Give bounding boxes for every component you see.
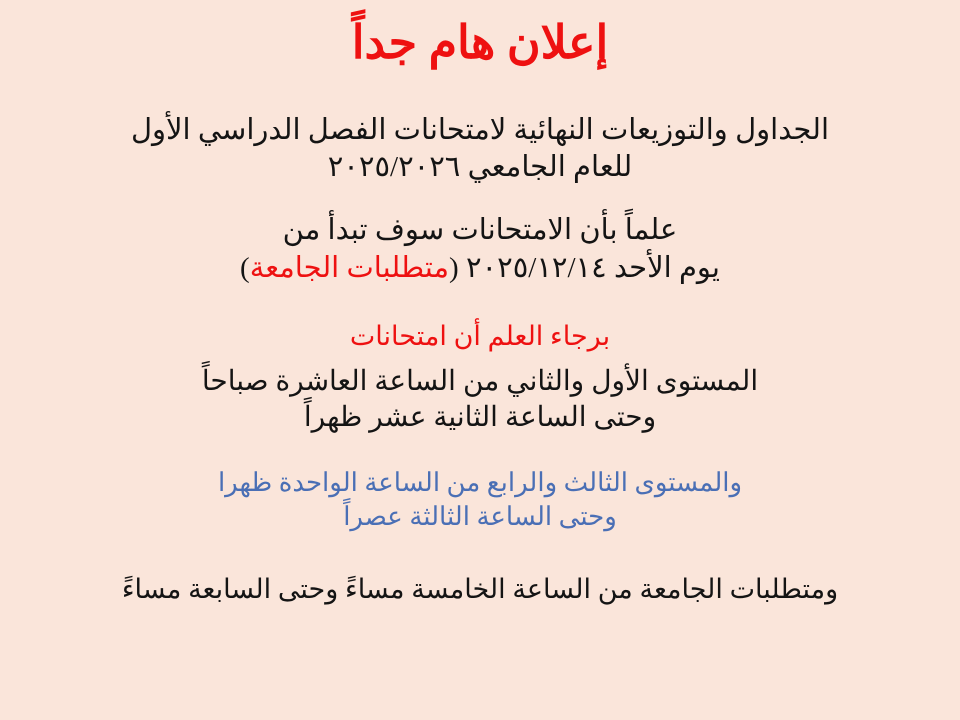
levels-one-two-line-1: المستوى الأول والثاني من الساعة العاشرة … xyxy=(48,364,912,400)
start-date-text: يوم الأحد ٢٠٢٥/١٢/١٤ ( xyxy=(449,252,720,284)
university-requirements-paragraph: ومتطلبات الجامعة من الساعة الخامسة مساءً… xyxy=(0,572,960,607)
notice-paragraph: برجاء العلم أن امتحانات xyxy=(0,320,960,354)
levels-three-four-line-2: وحتى الساعة الثالثة عصراً xyxy=(60,500,900,534)
announcement-slide: إعلان هام جداً الجداول والتوزيعات النهائ… xyxy=(0,0,960,720)
schedules-line-2-academic-year: للعام الجامعي ٢٠٢٥/٢٠٢٦ xyxy=(56,149,904,186)
slide-title-text: إعلان هام جداً xyxy=(0,16,960,70)
start-date-paren-close: ) xyxy=(240,252,250,284)
start-date-line-2: يوم الأحد ٢٠٢٥/١٢/١٤ (متطلبات الجامعة) xyxy=(56,250,904,288)
levels-one-two-line-2: وحتى الساعة الثانية عشر ظهراً xyxy=(48,400,912,436)
university-requirements-line-1: ومتطلبات الجامعة من الساعة الخامسة مساءً… xyxy=(24,572,936,607)
schedules-line-1: الجداول والتوزيعات النهائية لامتحانات ال… xyxy=(56,112,904,149)
notice-line-1: برجاء العلم أن امتحانات xyxy=(0,320,960,354)
schedules-paragraph: الجداول والتوزيعات النهائية لامتحانات ال… xyxy=(0,112,960,186)
start-date-paragraph: علماً بأن الامتحانات سوف تبدأ من يوم الأ… xyxy=(0,212,960,287)
slide-title: إعلان هام جداً xyxy=(0,16,960,70)
levels-three-four-paragraph: والمستوى الثالث والرابع من الساعة الواحد… xyxy=(0,466,960,535)
levels-one-two-paragraph: المستوى الأول والثاني من الساعة العاشرة … xyxy=(0,364,960,437)
levels-three-four-line-1: والمستوى الثالث والرابع من الساعة الواحد… xyxy=(60,466,900,500)
start-date-line-1: علماً بأن الامتحانات سوف تبدأ من xyxy=(56,212,904,250)
start-date-highlight: متطلبات الجامعة xyxy=(250,252,449,284)
